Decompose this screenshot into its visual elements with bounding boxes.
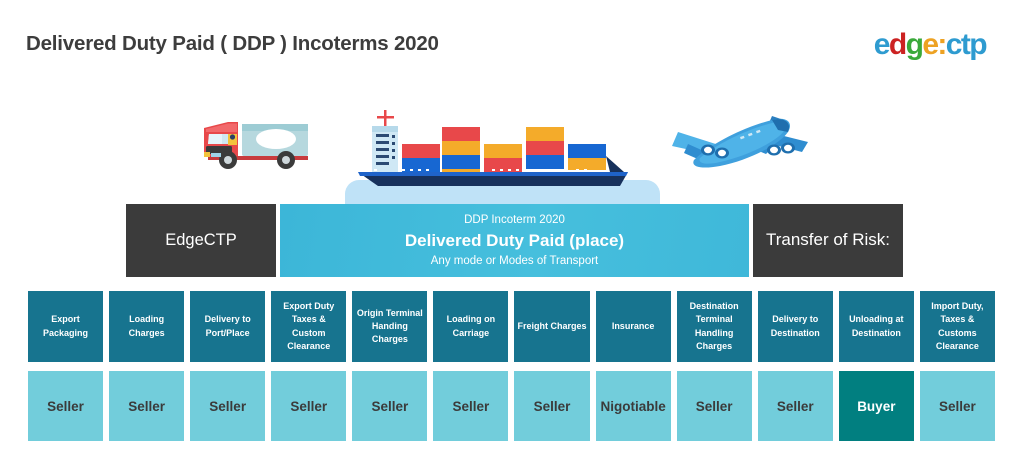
incoterm-title: Delivered Duty Paid (place) bbox=[405, 228, 624, 254]
table-header-cell: Loading Charges bbox=[109, 291, 184, 362]
incoterm-subtitle-bottom: Any mode or Modes of Transport bbox=[431, 254, 598, 270]
page-title: Delivered Duty Paid ( DDP ) Incoterms 20… bbox=[26, 32, 439, 56]
logo-letters-ctp: ctp bbox=[946, 30, 986, 60]
table-header-cell: Export Packaging bbox=[28, 291, 103, 362]
logo-letter-d: d bbox=[889, 30, 906, 60]
logo-letter-g: g bbox=[906, 30, 923, 60]
transfer-of-risk-box: Transfer of Risk: bbox=[753, 204, 903, 277]
table-value-cell: Seller bbox=[677, 371, 752, 441]
table-header-cell: Delivery to Destination bbox=[758, 291, 833, 362]
table-header-cell: Import Duty, Taxes & Customs Clearance bbox=[920, 291, 995, 362]
airplane-illustration bbox=[660, 110, 812, 172]
table-value-cell: Seller bbox=[758, 371, 833, 441]
incoterm-subtitle-top: DDP Incoterm 2020 bbox=[464, 212, 565, 228]
table-header-cell: Loading on Carriage bbox=[433, 291, 508, 362]
table-header-row: Export PackagingLoading ChargesDelivery … bbox=[28, 291, 995, 362]
table-value-cell: Seller bbox=[920, 371, 995, 441]
truck-illustration bbox=[198, 110, 316, 172]
incoterm-banner: DDP Incoterm 2020 Delivered Duty Paid (p… bbox=[280, 204, 749, 277]
table-header-cell: Origin Terminal Handing Charges bbox=[352, 291, 427, 362]
table-value-cell: Buyer bbox=[839, 371, 914, 441]
logo-colon: : bbox=[937, 30, 945, 60]
logo-letter-e1: e bbox=[874, 30, 889, 60]
table-value-cell: Seller bbox=[433, 371, 508, 441]
logo-letter-e2: e bbox=[922, 30, 937, 60]
table-header-cell: Unloading at Destination bbox=[839, 291, 914, 362]
table-value-cell: Seller bbox=[352, 371, 427, 441]
container-ship-illustration bbox=[352, 108, 634, 190]
table-value-cell: Seller bbox=[109, 371, 184, 441]
table-value-cell: Seller bbox=[28, 371, 103, 441]
edgectp-box: EdgeCTP bbox=[126, 204, 276, 277]
table-header-cell: Export Duty Taxes & Custom Clearance bbox=[271, 291, 346, 362]
table-value-cell: Seller bbox=[190, 371, 265, 441]
table-value-cell: Nigotiable bbox=[596, 371, 671, 441]
table-value-cell: Seller bbox=[514, 371, 589, 441]
table-header-cell: Freight Charges bbox=[514, 291, 589, 362]
table-value-row: SellerSellerSellerSellerSellerSellerSell… bbox=[28, 371, 995, 441]
table-header-cell: Insurance bbox=[596, 291, 671, 362]
table-header-cell: Destination Terminal Handling Charges bbox=[677, 291, 752, 362]
cost-responsibility-table: Export PackagingLoading ChargesDelivery … bbox=[28, 291, 995, 441]
table-value-cell: Seller bbox=[271, 371, 346, 441]
brand-logo: edge:ctp bbox=[874, 30, 986, 60]
table-header-cell: Delivery to Port/Place bbox=[190, 291, 265, 362]
